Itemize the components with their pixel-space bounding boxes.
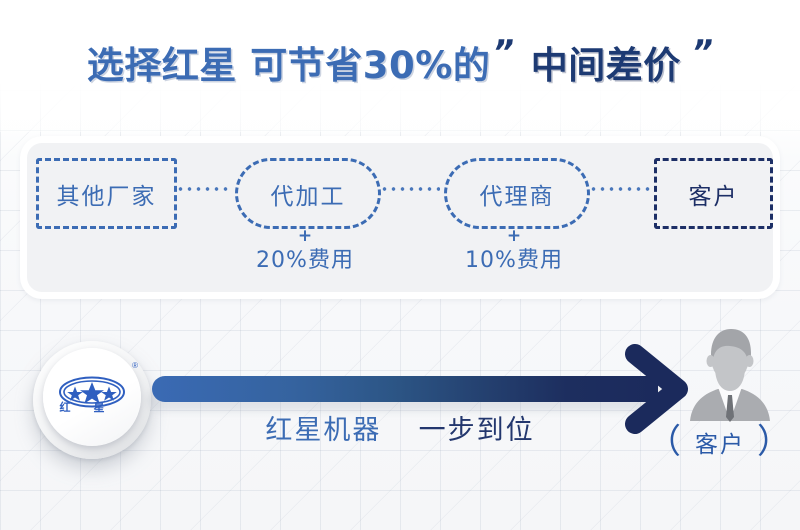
chain-node-other-factory-label: 其他厂家 <box>57 177 157 211</box>
chain-node-agent: 代理商 <box>444 158 590 229</box>
banner-canvas: 选择红星 可节省30%的 ” 中间差价 ” 其他厂家 代加工 代理商 客户 + … <box>0 0 800 530</box>
fee-plus-sign-oem: + <box>210 228 400 245</box>
page-title: 选择红星 可节省30%的 ” 中间差价 ” <box>0 30 800 94</box>
headline-blue-text: 选择红星 可节省30%的 <box>87 35 490 89</box>
fee-markup-oem: + 20%费用 <box>210 228 400 275</box>
tagline-brand-text: 红星机器 <box>265 415 381 446</box>
chain-node-oem: 代加工 <box>235 158 381 229</box>
chain-connector-1 <box>176 187 231 191</box>
bracket-right-icon: ） <box>757 427 793 457</box>
fee-plus-sign-agent: + <box>419 228 609 245</box>
fee-amount-agent: 10%费用 <box>419 247 609 275</box>
quote-close-mark: ” <box>688 33 714 73</box>
chain-node-other-factory: 其他厂家 <box>36 158 177 229</box>
client-label-tag: （ 客户 ） <box>640 424 800 460</box>
tagline-slogan-text: 一步到位 <box>419 415 535 446</box>
progress-arrow-bar <box>152 376 658 402</box>
chain-node-client-label: 客户 <box>689 177 739 211</box>
fee-markup-agent: + 10%费用 <box>419 228 609 275</box>
bracket-left-icon: （ <box>647 427 683 457</box>
headline-navy-text: 中间差价 <box>531 35 681 89</box>
fee-amount-oem: 20%费用 <box>210 247 400 275</box>
logo-registered-mark: ® <box>132 362 138 370</box>
middlemen-chain-card: 其他厂家 代加工 代理商 客户 + 20%费用 + 10%费用 <box>20 136 780 299</box>
chain-connector-2 <box>380 187 440 191</box>
quote-open-mark: ” <box>490 33 516 73</box>
chain-connector-3 <box>589 187 651 191</box>
businessman-avatar-icon <box>668 325 792 425</box>
chain-node-oem-label: 代加工 <box>271 177 346 211</box>
chain-node-agent-label: 代理商 <box>480 177 555 211</box>
client-tag-label: 客户 <box>695 425 745 459</box>
chain-node-client: 客户 <box>654 158 773 229</box>
